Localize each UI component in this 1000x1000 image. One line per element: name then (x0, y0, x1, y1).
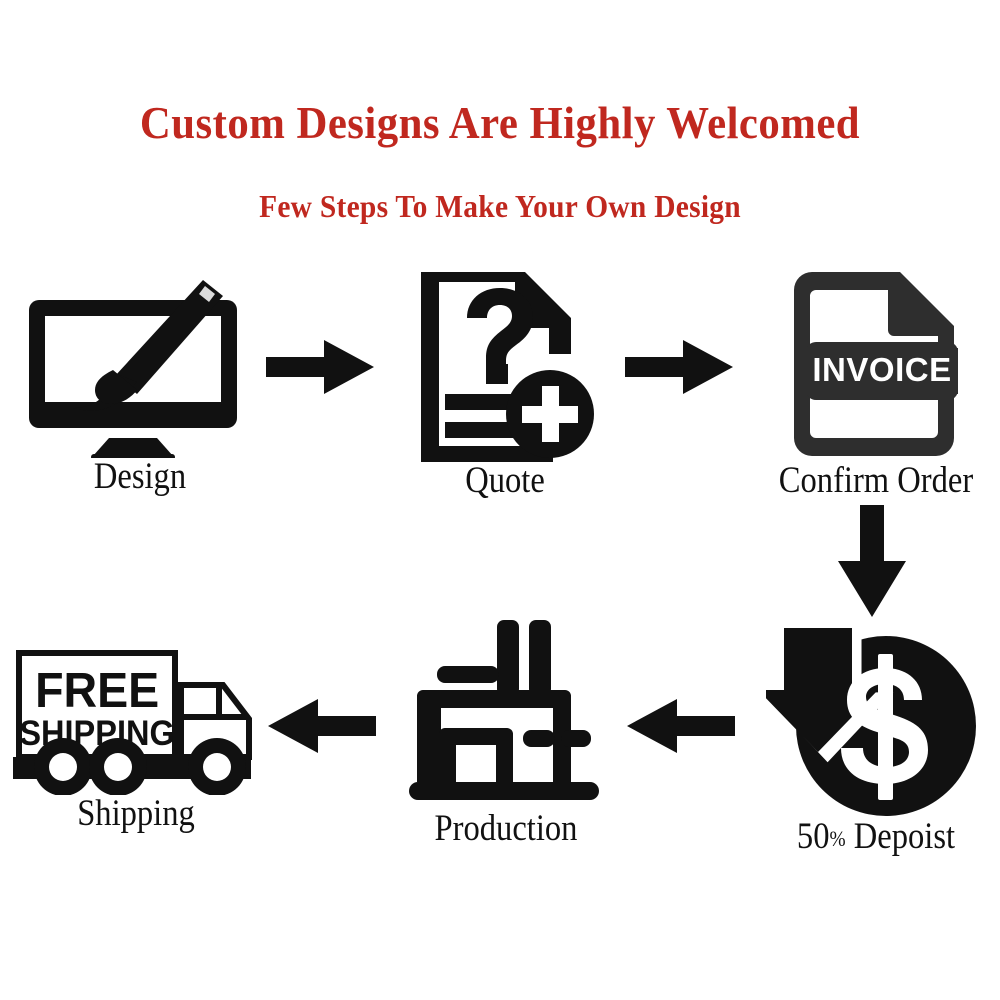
step-shipping-icon-wrap: FREE SHIPPING (0, 645, 276, 795)
document-question-plus-icon (405, 266, 605, 462)
step-quote-icon-wrap (380, 266, 630, 462)
step-design-icon-wrap (10, 278, 270, 458)
truck-free-text: FREE (35, 664, 159, 718)
step-quote: Quote (380, 266, 630, 501)
page-subtitle: Few Steps To Make Your Own Design (40, 188, 960, 225)
infographic-canvas: Custom Designs Are Highly Welcomed Few S… (0, 0, 1000, 1000)
step-deposit-label-percent: % (829, 826, 845, 851)
step-design-label: Design (26, 458, 255, 497)
step-confirm-order: INVOICE Confirm Order (748, 266, 1000, 501)
delivery-truck-icon: FREE SHIPPING (5, 645, 267, 795)
arrow-deposit-to-production (627, 695, 735, 757)
step-production-icon-wrap (382, 610, 630, 810)
step-shipping: FREE SHIPPING Shipping (0, 645, 276, 834)
monitor-paintbrush-icon (25, 278, 255, 458)
step-confirm-order-label: Confirm Order (763, 462, 988, 501)
step-deposit-label-text: Depoist (854, 816, 955, 857)
step-deposit-label: 50% Depoist (765, 818, 987, 857)
factory-icon (401, 610, 611, 810)
arrow-design-to-quote (266, 336, 374, 398)
page-title: Custom Designs Are Highly Welcomed (35, 96, 965, 149)
arrow-left-icon (268, 695, 376, 757)
invoice-banner-text: INVOICE (812, 351, 951, 388)
step-deposit-label-number: 50 (797, 816, 830, 857)
step-deposit: 50% Depoist (750, 618, 1000, 857)
arrow-right-icon (266, 336, 374, 398)
step-production: Production (382, 610, 630, 849)
invoice-document-icon: INVOICE (776, 266, 976, 462)
arrow-right-icon (625, 336, 733, 398)
dollar-circle-down-arrow-icon (766, 618, 986, 818)
step-production-label: Production (397, 810, 615, 849)
step-design: Design (10, 278, 270, 497)
step-shipping-label: Shipping (13, 795, 259, 834)
arrow-left-icon (627, 695, 735, 757)
arrow-quote-to-confirm (625, 336, 733, 398)
step-deposit-icon-wrap (750, 618, 1000, 818)
arrow-confirm-to-deposit (838, 505, 906, 617)
arrow-production-to-shipping (268, 695, 376, 757)
step-confirm-icon-wrap: INVOICE (748, 266, 1000, 462)
arrow-down-icon (838, 505, 906, 617)
step-quote-label: Quote (395, 462, 615, 501)
